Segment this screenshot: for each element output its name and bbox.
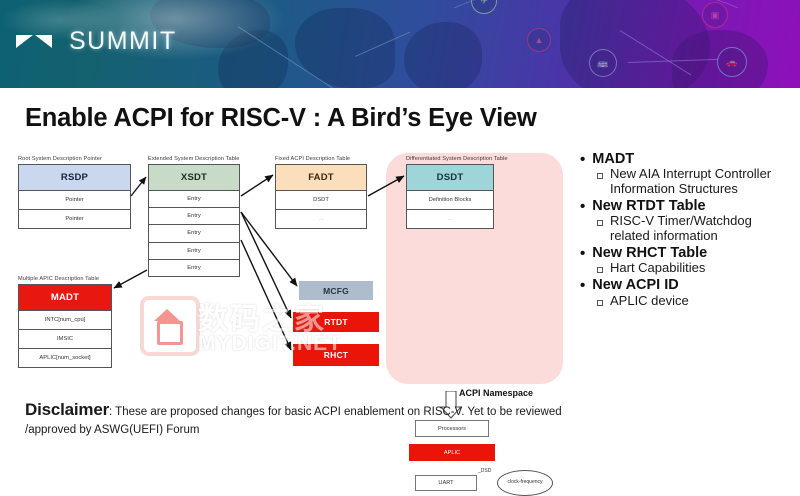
table-xsdt-caption: Extended System Description Table — [148, 156, 240, 162]
sub-bullet-item: APLIC device — [597, 294, 795, 309]
table-mcfg: MCFG — [299, 281, 373, 300]
header-banner: ▣ ▲ 🚌 🚗 ✈ SUMMIT — [0, 0, 800, 88]
sub-bullet-item: RISC-V Timer/Watchdog related informatio… — [597, 214, 795, 244]
bullet-title: New ACPI ID — [592, 277, 678, 293]
sub-bullet-square-icon — [597, 267, 603, 273]
dsd-edge-label: _DSD — [478, 468, 491, 474]
bullet-item-acpi-id: • New ACPI ID — [580, 277, 795, 293]
map-node-pink-2: ▲ — [527, 28, 551, 52]
double-chevron-icon — [16, 33, 60, 50]
table-xsdt-row: Entry — [149, 207, 239, 224]
bullet-dot-icon: • — [580, 277, 585, 293]
bullet-dot-icon: • — [580, 198, 585, 214]
bullet-item-madt: • MADT — [580, 151, 795, 167]
table-madt: Multiple APIC Description Table MADT INT… — [18, 276, 112, 368]
sub-bullet-square-icon — [597, 220, 603, 226]
sub-bullet-text: New AIA Interrupt Controller Information… — [610, 167, 795, 197]
bullet-item-rtdt: • New RTDT Table — [580, 198, 795, 214]
table-fadt: Fixed ACPI Description Table FADT DSDT .… — [275, 156, 367, 229]
node-clock-frequency: clock-frequency — [497, 470, 553, 496]
disclaimer-label: Disclaimer — [25, 400, 109, 419]
acpi-architecture-diagram: Root System Description Pointer RSDP Poi… — [0, 148, 575, 392]
table-xsdt-row: Entry — [149, 259, 239, 276]
map-node-bus: 🚌 — [589, 49, 617, 77]
table-fadt-row: DSDT — [276, 190, 366, 209]
table-dsdt-header: DSDT — [407, 165, 493, 190]
summit-logo: SUMMIT — [16, 27, 177, 56]
table-fadt-row: ... — [276, 209, 366, 228]
table-xsdt-row: Entry — [149, 242, 239, 259]
map-node-car: 🚗 — [717, 47, 747, 77]
bullet-dot-icon: • — [580, 151, 585, 167]
bullet-item-rhct: • New RHCT Table — [580, 245, 795, 261]
sub-bullet-square-icon — [597, 300, 603, 306]
sub-bullet-item: New AIA Interrupt Controller Information… — [597, 167, 795, 197]
bullet-title: New RHCT Table — [592, 245, 707, 261]
table-dsdt-row: Definition Blocks — [407, 190, 493, 209]
table-dsdt: Differentiated System Description Table … — [406, 156, 494, 229]
table-madt-row: IMSIC — [19, 329, 111, 348]
table-rsdp: Root System Description Pointer RSDP Poi… — [18, 156, 131, 229]
table-fadt-caption: Fixed ACPI Description Table — [275, 156, 367, 162]
sub-bullet-text: RISC-V Timer/Watchdog related informatio… — [610, 214, 795, 244]
acpi-namespace-label: ACPI Namespace — [459, 388, 533, 398]
bullet-dot-icon: • — [580, 245, 585, 261]
sub-bullet-item: Hart Capabilities — [597, 261, 795, 276]
table-rsdp-caption: Root System Description Pointer — [18, 156, 131, 162]
table-dsdt-row: ... — [407, 209, 493, 228]
table-madt-header: MADT — [19, 285, 111, 310]
table-dsdt-caption: Differentiated System Description Table — [406, 156, 494, 162]
table-xsdt-row: Entry — [149, 190, 239, 207]
table-rhct: RHCT — [293, 344, 379, 366]
bullet-title: New RTDT Table — [592, 198, 705, 214]
table-madt-row: APLIC[num_socket] — [19, 348, 111, 367]
disclaimer: Disclaimer: These are proposed changes f… — [25, 398, 570, 438]
table-rtdt: RTDT — [293, 312, 379, 332]
bullet-title: MADT — [592, 151, 634, 167]
page-title: Enable ACPI for RISC-V : A Bird’s Eye Vi… — [25, 104, 537, 133]
node-uart: UART — [415, 475, 477, 491]
table-rsdp-row: Pointer — [19, 190, 130, 209]
sub-bullet-square-icon — [597, 173, 603, 179]
node-aplic: APLIC — [409, 444, 495, 461]
table-madt-caption: Multiple APIC Description Table — [18, 276, 112, 282]
map-node-pink: ▣ — [702, 2, 728, 28]
table-xsdt-header: XSDT — [149, 165, 239, 190]
table-xsdt-row: Entry — [149, 224, 239, 241]
sub-bullet-text: Hart Capabilities — [610, 261, 705, 276]
table-xsdt: Extended System Description Table XSDT E… — [148, 156, 240, 277]
table-rsdp-header: RSDP — [19, 165, 130, 190]
table-fadt-header: FADT — [276, 165, 366, 190]
sub-bullet-text: APLIC device — [610, 294, 689, 309]
table-rsdp-row: Pointer — [19, 209, 130, 228]
key-changes-list: • MADT New AIA Interrupt Controller Info… — [580, 150, 795, 309]
table-madt-row: INTC[num_cpu] — [19, 310, 111, 329]
logo-text: SUMMIT — [69, 27, 177, 56]
